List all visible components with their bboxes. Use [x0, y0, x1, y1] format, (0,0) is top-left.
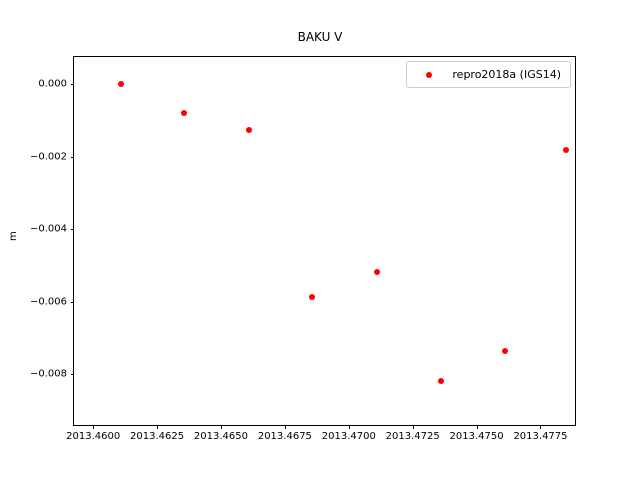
data-point-marker [246, 127, 252, 133]
x-axis-tick-label: 2013.4600 [66, 431, 120, 442]
x-axis-tick-label: 2013.4650 [194, 431, 248, 442]
y-axis-tick-label: −0.004 [30, 224, 67, 235]
x-axis-tick [413, 425, 414, 429]
data-point-marker [374, 269, 380, 275]
y-axis-tick [71, 302, 75, 303]
y-axis-tick-label: −0.008 [30, 369, 67, 380]
x-axis-tick-label: 2013.4700 [322, 431, 376, 442]
plot-axes: repro2018a (IGS14) 0.000−0.002−0.004−0.0… [73, 56, 576, 426]
x-axis-tick-label: 2013.4725 [386, 431, 440, 442]
y-axis-tick-label: 0.000 [38, 79, 67, 90]
matplotlib-figure: BAKU V repro2018a (IGS14) 0.000−0.002−0.… [0, 0, 640, 480]
x-axis-tick-label: 2013.4675 [258, 431, 312, 442]
data-point-marker [181, 110, 187, 116]
scatter-plot-area [74, 57, 575, 425]
x-axis-tick [93, 425, 94, 429]
x-axis-tick [221, 425, 222, 429]
x-axis-tick-label: 2013.4625 [130, 431, 184, 442]
y-axis-tick [71, 84, 75, 85]
chart-title: BAKU V [0, 30, 640, 44]
y-axis-tick [71, 374, 75, 375]
x-axis-tick [157, 425, 158, 429]
y-axis-tick-label: −0.006 [30, 296, 67, 307]
y-axis-tick [71, 157, 75, 158]
data-point-marker [563, 147, 569, 153]
chart-legend[interactable]: repro2018a (IGS14) [406, 61, 571, 88]
x-axis-tick-label: 2013.4750 [450, 431, 504, 442]
y-axis-label: m [8, 231, 19, 241]
legend-marker-dot [416, 72, 442, 78]
legend-entry-label: repro2018a (IGS14) [452, 68, 561, 81]
x-axis-tick [540, 425, 541, 429]
x-axis-tick [477, 425, 478, 429]
data-point-marker [502, 348, 508, 354]
x-axis-tick-label: 2013.4775 [513, 431, 567, 442]
x-axis-tick [285, 425, 286, 429]
y-axis-tick [71, 229, 75, 230]
data-point-marker [309, 294, 315, 300]
y-axis-tick-label: −0.002 [30, 151, 67, 162]
data-point-marker [438, 378, 444, 384]
x-axis-tick [349, 425, 350, 429]
data-point-marker [118, 81, 124, 87]
